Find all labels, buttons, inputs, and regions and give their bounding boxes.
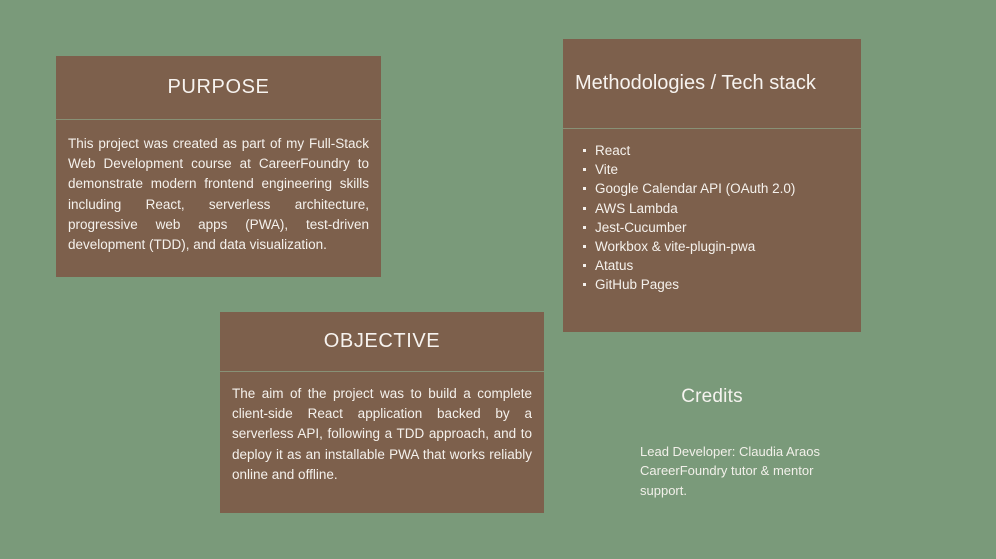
about-page: { "theme": { "background": "#7a9a7a", "c… <box>0 0 996 559</box>
list-item-label: GitHub Pages <box>595 277 679 292</box>
purpose-card-divider <box>56 119 381 120</box>
list-item: Jest-Cucumber <box>595 218 851 237</box>
credits-text: Lead Developer: Claudia Araos CareerFoun… <box>563 442 861 500</box>
bullet-icon <box>583 207 586 210</box>
credits-title: Credits <box>563 386 861 408</box>
purpose-card: PURPOSE This project was created as part… <box>56 56 381 277</box>
credits-section: Credits Lead Developer: Claudia Araos Ca… <box>563 386 861 500</box>
list-item-label: Vite <box>595 162 618 177</box>
list-item: React <box>595 141 851 160</box>
bullet-icon <box>583 245 586 248</box>
bullet-icon <box>583 187 586 190</box>
objective-card-title: OBJECTIVE <box>220 312 544 371</box>
list-item-label: React <box>595 143 630 158</box>
list-item-label: Google Calendar API (OAuth 2.0) <box>595 181 795 196</box>
list-item-label: Jest-Cucumber <box>595 220 687 235</box>
objective-card-text: The aim of the project was to build a co… <box>232 384 532 485</box>
bullet-icon <box>583 149 586 152</box>
purpose-card-title: PURPOSE <box>56 56 381 119</box>
objective-card-divider <box>220 371 544 372</box>
methodologies-card: Methodologies / Tech stack React Vite Go… <box>563 39 861 332</box>
tech-stack-list: React Vite Google Calendar API (OAuth 2.… <box>573 141 851 295</box>
methodologies-card-divider <box>563 128 861 129</box>
methodologies-card-title: Methodologies / Tech stack <box>563 39 861 128</box>
bullet-icon <box>583 226 586 229</box>
list-item-label: Workbox & vite-plugin-pwa <box>595 239 755 254</box>
list-item: Workbox & vite-plugin-pwa <box>595 237 851 256</box>
objective-card-body: The aim of the project was to build a co… <box>220 372 544 513</box>
objective-card: OBJECTIVE The aim of the project was to … <box>220 312 544 513</box>
list-item: AWS Lambda <box>595 199 851 218</box>
purpose-card-body: This project was created as part of my F… <box>56 120 381 277</box>
purpose-card-text: This project was created as part of my F… <box>68 134 369 255</box>
list-item-label: Atatus <box>595 258 633 273</box>
list-item: GitHub Pages <box>595 275 851 294</box>
list-item-label: AWS Lambda <box>595 201 678 216</box>
list-item: Google Calendar API (OAuth 2.0) <box>595 179 851 198</box>
methodologies-card-body: React Vite Google Calendar API (OAuth 2.… <box>563 129 861 305</box>
bullet-icon <box>583 168 586 171</box>
bullet-icon <box>583 283 586 286</box>
bullet-icon <box>583 264 586 267</box>
list-item: Atatus <box>595 256 851 275</box>
list-item: Vite <box>595 160 851 179</box>
